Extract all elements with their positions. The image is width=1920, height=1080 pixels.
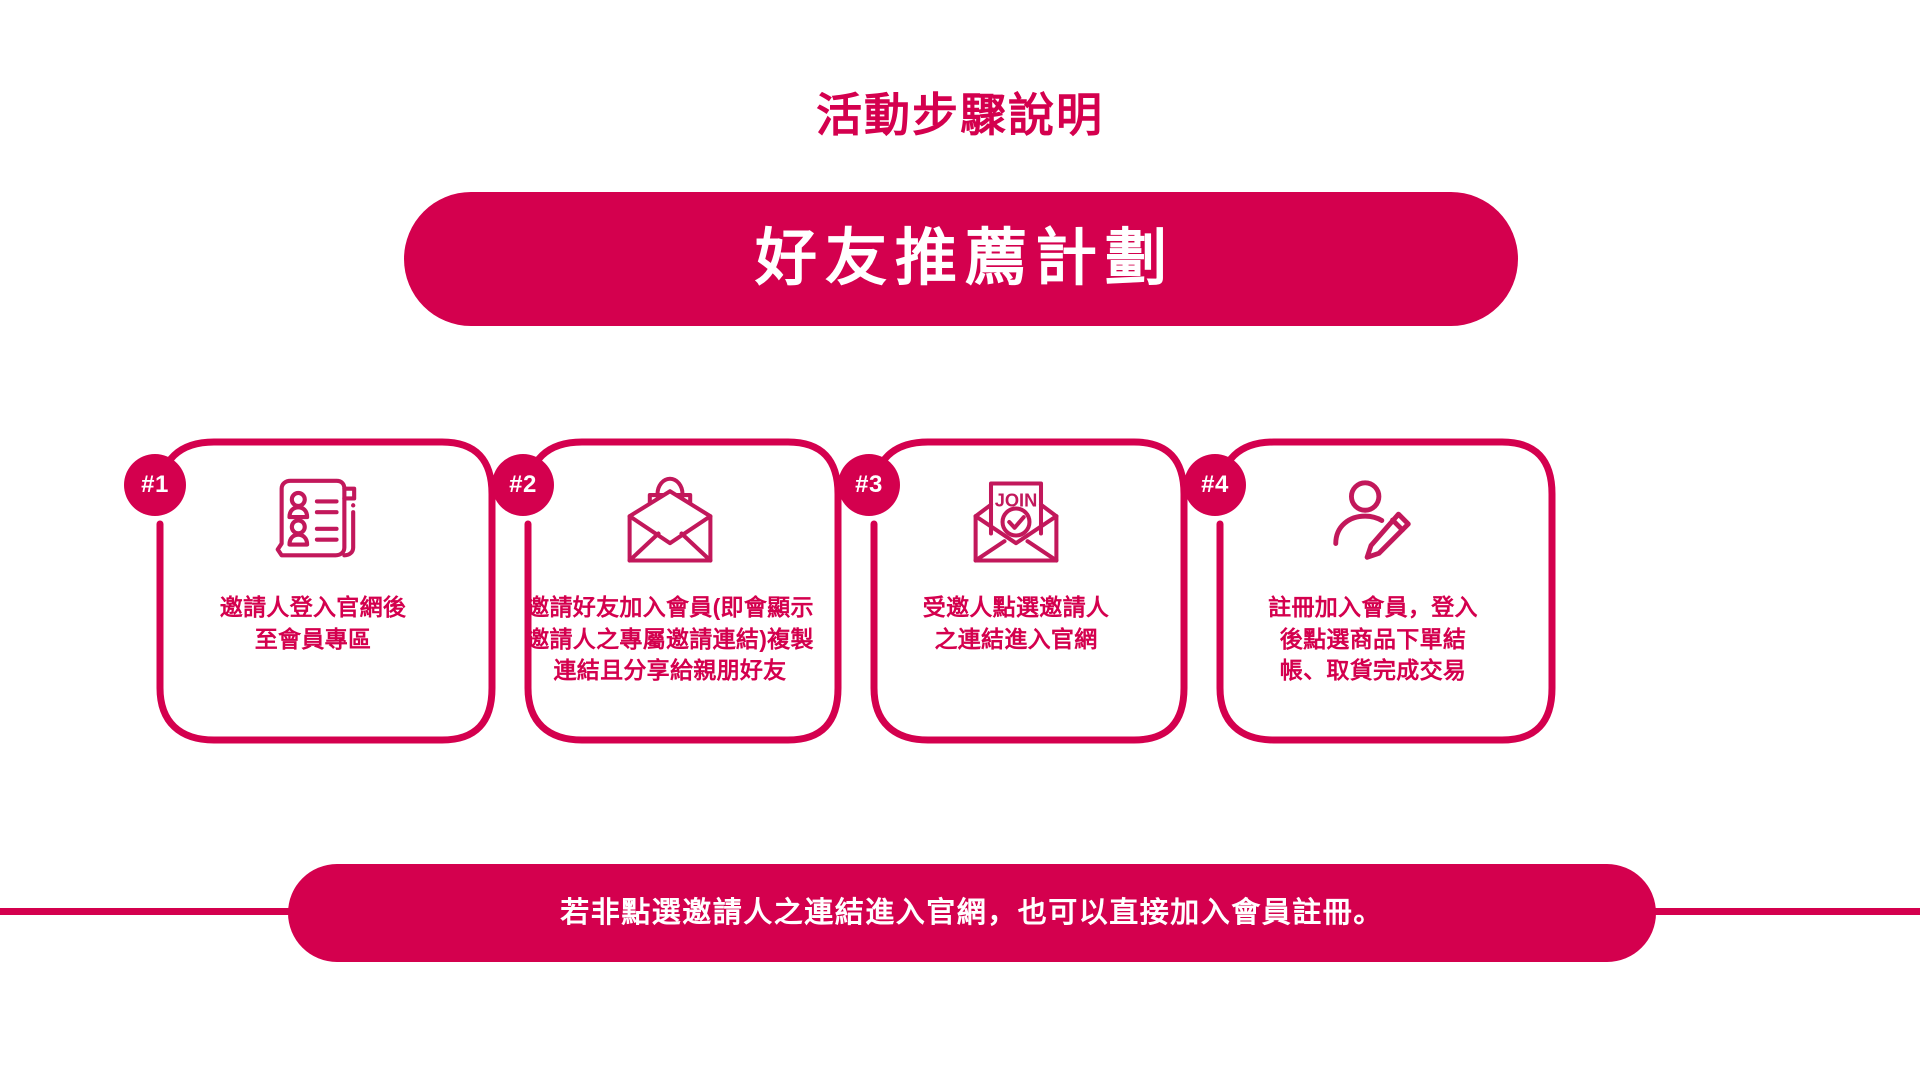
footer-note-text: 若非點選邀請人之連結進入官網，也可以直接加入會員註冊。 (560, 899, 1384, 928)
step-badge-3: #3 (838, 454, 900, 516)
step-card-1[interactable]: #1 (128, 436, 498, 746)
step-badge-4: #4 (1184, 454, 1246, 516)
footer-note-banner: 若非點選邀請人之連結進入官網，也可以直接加入會員註冊。 (288, 864, 1656, 962)
step-card-4[interactable]: #4 註冊加入會員，登入 後點選商品下單結 帳、取貨完成交易 (1188, 436, 1558, 746)
step-badge-2: #2 (492, 454, 554, 516)
steps-row: #1 (0, 436, 1920, 766)
step-badge-1: #1 (124, 454, 186, 516)
infographic-root: 活動步驟說明 好友推薦計劃 #1 (0, 0, 1920, 1080)
step-card-2[interactable]: #2 邀請好友加入會員(即會顯示 邀請人 (496, 436, 844, 746)
main-banner: 好友推薦計劃 (404, 192, 1518, 326)
step-card-3[interactable]: #3 JOIN 受邀人點選邀請人 (842, 436, 1190, 746)
main-banner-title: 好友推薦計劃 (747, 228, 1175, 290)
page-title: 活動步驟說明 (0, 92, 1920, 138)
